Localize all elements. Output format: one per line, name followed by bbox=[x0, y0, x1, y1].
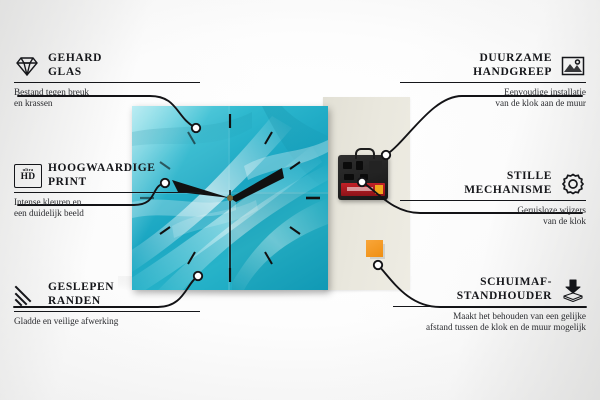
feature-title-line2: PRINT bbox=[48, 176, 87, 188]
battery bbox=[341, 183, 385, 196]
feature-divider bbox=[393, 306, 586, 307]
mechanism-port-a bbox=[343, 162, 352, 169]
feature-divider bbox=[14, 311, 200, 312]
spacer-arrow-icon bbox=[560, 278, 586, 302]
foam-spacer bbox=[366, 240, 383, 257]
feature-title-line1: STILLE bbox=[507, 170, 552, 182]
feature-title-line2: HANDGREEP bbox=[473, 66, 552, 78]
feature-desc-line2: een duidelijk beeld bbox=[14, 208, 84, 218]
battery-label bbox=[347, 187, 373, 191]
ultra-hd-icon-bottom-text: HD bbox=[21, 173, 36, 183]
feature-title-line2: STANDHOUDER bbox=[457, 290, 552, 302]
clock-mechanism bbox=[338, 155, 388, 200]
feature-title-line2: RANDEN bbox=[48, 295, 101, 307]
mechanism-port-b bbox=[356, 161, 363, 170]
ultra-hd-icon: ultra HD bbox=[14, 164, 40, 188]
picture-frame-icon bbox=[560, 54, 586, 78]
feature-title-line1: GESLEPEN bbox=[48, 281, 114, 293]
mechanism-hanger-hook bbox=[355, 148, 375, 159]
feature-schuimafstandhouder: SCHUIMAF- STANDHOUDER Maakt het behouden… bbox=[393, 276, 586, 334]
feature-title-line2: MECHANISME bbox=[464, 184, 552, 196]
feature-gehard-glas: GEHARD GLAS Bestand tegen breuk en krass… bbox=[14, 52, 200, 110]
feature-desc-line2: en krassen bbox=[14, 98, 53, 108]
mechanism-port-e bbox=[360, 174, 368, 180]
feature-desc-line1: Intense kleuren en bbox=[14, 197, 81, 207]
feature-title-line1: HOOGWAARDIGE bbox=[48, 162, 156, 174]
feature-desc-line1: Geruisloze wijzers bbox=[517, 205, 586, 215]
diamond-icon bbox=[14, 54, 40, 78]
infographic-canvas: GEHARD GLAS Bestand tegen breuk en krass… bbox=[0, 0, 600, 400]
mechanism-port-d bbox=[344, 174, 354, 180]
mechanism-port-c bbox=[369, 161, 382, 173]
feature-title-line1: DUURZAME bbox=[479, 52, 552, 64]
feature-divider bbox=[400, 200, 586, 201]
feature-desc-line2: van de klok aan de muur bbox=[495, 98, 586, 108]
feature-stille-mechanisme: STILLE MECHANISME Geruisloze wijzers van… bbox=[400, 170, 586, 228]
bevelled-edges-icon bbox=[14, 283, 40, 307]
feature-divider bbox=[400, 82, 586, 83]
feature-geslepen-randen: GESLEPEN RANDEN Gladde en veilige afwerk… bbox=[14, 281, 200, 327]
feature-title-line2: GLAS bbox=[48, 66, 82, 78]
feature-desc-line1: Maakt het behouden van een gelijke bbox=[453, 311, 586, 321]
hands-cap bbox=[227, 195, 233, 201]
feature-desc-line2: afstand tussen de klok en de muur mogeli… bbox=[426, 322, 586, 332]
feature-desc-line1: Bestand tegen breuk bbox=[14, 87, 89, 97]
feature-desc-line2: van de klok bbox=[543, 216, 586, 226]
gear-icon bbox=[560, 172, 586, 196]
feature-title-line1: GEHARD bbox=[48, 52, 102, 64]
feature-hoogwaardige-print: ultra HD HOOGWAARDIGE PRINT Intense kleu… bbox=[14, 162, 200, 220]
feature-divider bbox=[14, 192, 200, 193]
feature-divider bbox=[14, 82, 200, 83]
battery-plus-terminal bbox=[375, 185, 383, 194]
feature-title-line1: SCHUIMAF- bbox=[480, 276, 552, 288]
feature-desc-line1: Eenvoudige installatie bbox=[504, 87, 586, 97]
feature-desc-line1: Gladde en veilige afwerking bbox=[14, 316, 118, 326]
feature-duurzame-handgreep: DUURZAME HANDGREEP Eenvoudige installati… bbox=[400, 52, 586, 110]
